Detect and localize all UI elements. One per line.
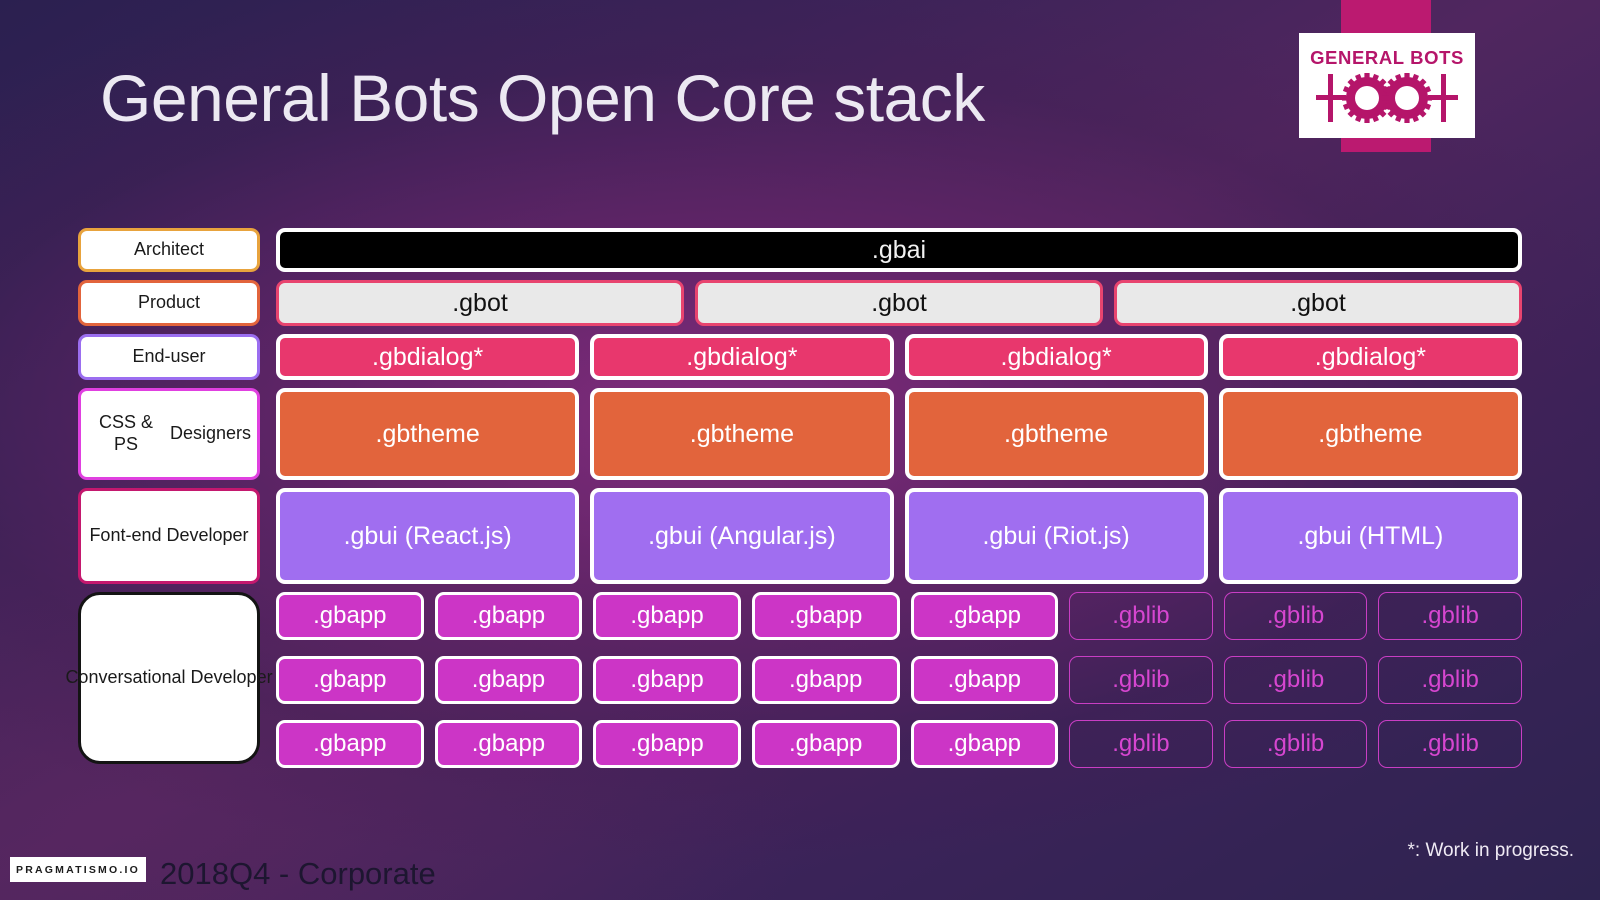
lane-gbdialog: .gbdialog* .gbdialog* .gbdialog* .gbdial…	[276, 334, 1522, 380]
lane-gbai: .gbai	[276, 228, 1522, 272]
box-gbapp[interactable]: .gbapp	[276, 720, 424, 768]
box-gbapp[interactable]: .gbapp	[435, 720, 583, 768]
box-gblib[interactable]: .gblib	[1378, 592, 1522, 640]
box-gblib[interactable]: .gblib	[1069, 592, 1213, 640]
box-gblib[interactable]: .gblib	[1069, 720, 1213, 768]
role-label-end-user: End-user	[78, 334, 260, 380]
box-gblib[interactable]: .gblib	[1378, 656, 1522, 704]
layer-row-gbapp-gblib: Conversational Developer .gbapp .gbapp .…	[78, 592, 1522, 768]
layer-row-gbtheme: CSS & PS Designers .gbtheme .gbtheme .gb…	[78, 388, 1522, 480]
role-label-front-end-developer: Font-end Developer	[78, 488, 260, 584]
box-gbapp[interactable]: .gbapp	[911, 656, 1059, 704]
gbapp-gblib-row: .gbapp .gbapp .gbapp .gbapp .gbapp .gbli…	[276, 656, 1522, 704]
box-gbtheme[interactable]: .gbtheme	[1219, 388, 1522, 480]
role-label-product: Product	[78, 280, 260, 326]
lane-gbot: .gbot .gbot .gbot	[276, 280, 1522, 326]
box-gbtheme[interactable]: .gbtheme	[590, 388, 893, 480]
box-gbdialog[interactable]: .gbdialog*	[1219, 334, 1522, 380]
box-gbtheme[interactable]: .gbtheme	[276, 388, 579, 480]
gbapp-gblib-row: .gbapp .gbapp .gbapp .gbapp .gbapp .gbli…	[276, 592, 1522, 640]
pragmatismo-wordmark: PRAGMATISMO.IO	[16, 864, 140, 876]
stack-diagram: Architect .gbai Product .gbot .gbot .gbo…	[78, 228, 1522, 768]
role-line-2: Developer	[191, 667, 273, 689]
gears-logo-icon	[1312, 72, 1462, 124]
role-line-1: CSS & PS	[87, 412, 165, 456]
box-gbai[interactable]: .gbai	[276, 228, 1522, 272]
box-gbapp[interactable]: .gbapp	[435, 656, 583, 704]
box-gbapp[interactable]: .gbapp	[752, 720, 900, 768]
box-gblib[interactable]: .gblib	[1224, 720, 1368, 768]
role-line-1: Conversational	[65, 667, 185, 689]
general-bots-logo: GENERAL BOTS	[1299, 33, 1475, 138]
role-line-1: Font-end	[89, 525, 161, 547]
logo-wordmark: GENERAL BOTS	[1310, 47, 1464, 69]
box-gblib[interactable]: .gblib	[1378, 720, 1522, 768]
role-label-css-ps-designers: CSS & PS Designers	[78, 388, 260, 480]
box-gbot[interactable]: .gbot	[276, 280, 684, 326]
box-gbapp[interactable]: .gbapp	[593, 720, 741, 768]
role-label-conversational-developer: Conversational Developer	[78, 592, 260, 764]
footnote-work-in-progress: *: Work in progress.	[1408, 840, 1574, 862]
slide-canvas: General Bots Open Core stack GENERAL BOT…	[0, 0, 1600, 900]
box-gbui-react[interactable]: .gbui (React.js)	[276, 488, 579, 584]
role-line-2: Designers	[170, 423, 251, 445]
box-gbui-html[interactable]: .gbui (HTML)	[1219, 488, 1522, 584]
deck-label: 2018Q4 - Corporate	[160, 856, 436, 892]
layer-row-gbui: Font-end Developer .gbui (React.js) .gbu…	[78, 488, 1522, 584]
box-gblib[interactable]: .gblib	[1069, 656, 1213, 704]
box-gbot[interactable]: .gbot	[1114, 280, 1522, 326]
box-gbapp[interactable]: .gbapp	[276, 592, 424, 640]
gbapp-gblib-row: .gbapp .gbapp .gbapp .gbapp .gbapp .gbli…	[276, 720, 1522, 768]
role-label-architect: Architect	[78, 228, 260, 272]
role-line-2: Developer	[167, 525, 249, 547]
box-gbapp[interactable]: .gbapp	[276, 656, 424, 704]
box-gbapp[interactable]: .gbapp	[911, 720, 1059, 768]
box-gbot[interactable]: .gbot	[695, 280, 1103, 326]
box-gbdialog[interactable]: .gbdialog*	[905, 334, 1208, 380]
box-gbapp[interactable]: .gbapp	[435, 592, 583, 640]
box-gbdialog[interactable]: .gbdialog*	[276, 334, 579, 380]
box-gbapp[interactable]: .gbapp	[593, 656, 741, 704]
box-gblib[interactable]: .gblib	[1224, 656, 1368, 704]
box-gbapp[interactable]: .gbapp	[752, 592, 900, 640]
box-gbapp[interactable]: .gbapp	[593, 592, 741, 640]
box-gbapp[interactable]: .gbapp	[752, 656, 900, 704]
layer-row-gbdialog: End-user .gbdialog* .gbdialog* .gbdialog…	[78, 334, 1522, 380]
layer-row-gbai: Architect .gbai	[78, 228, 1522, 272]
lane-gbtheme: .gbtheme .gbtheme .gbtheme .gbtheme	[276, 388, 1522, 480]
page-title: General Bots Open Core stack	[100, 60, 985, 136]
box-gbdialog[interactable]: .gbdialog*	[590, 334, 893, 380]
box-gbtheme[interactable]: .gbtheme	[905, 388, 1208, 480]
box-gblib[interactable]: .gblib	[1224, 592, 1368, 640]
box-gbui-riot[interactable]: .gbui (Riot.js)	[905, 488, 1208, 584]
lane-gbui: .gbui (React.js) .gbui (Angular.js) .gbu…	[276, 488, 1522, 584]
box-gbapp[interactable]: .gbapp	[911, 592, 1059, 640]
pragmatismo-logo: PRAGMATISMO.IO	[10, 857, 146, 882]
layer-row-gbot: Product .gbot .gbot .gbot	[78, 280, 1522, 326]
box-gbui-angular[interactable]: .gbui (Angular.js)	[590, 488, 893, 584]
lane-gbapp-gblib: .gbapp .gbapp .gbapp .gbapp .gbapp .gbli…	[276, 592, 1522, 768]
